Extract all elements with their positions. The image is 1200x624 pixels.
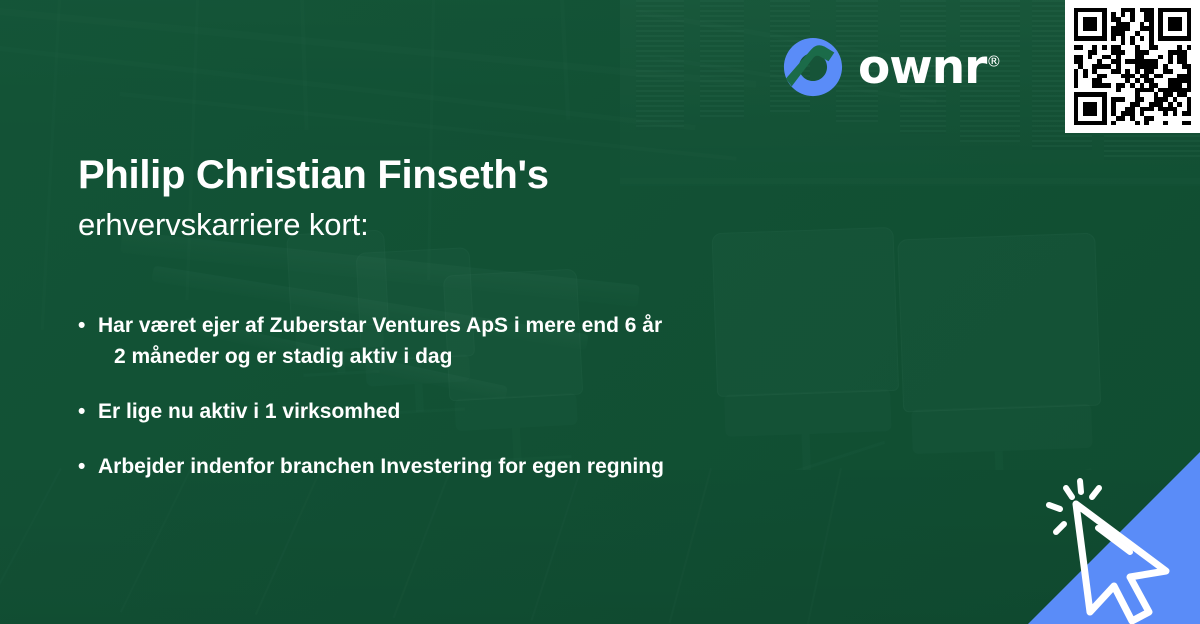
list-item: •Er lige nu aktiv i 1 virksomhed	[78, 396, 1058, 427]
heading-block: Philip Christian Finseth's erhvervskarri…	[78, 152, 978, 245]
list-item-text: Har været ejer af Zuberstar Ventures ApS…	[98, 310, 1058, 372]
list-item-text: Er lige nu aktiv i 1 virksomhed	[98, 396, 1058, 427]
career-facts-list: •Har været ejer af Zuberstar Ventures Ap…	[78, 310, 1058, 506]
page-title: Philip Christian Finseth's	[78, 152, 978, 199]
list-item: •Har været ejer af Zuberstar Ventures Ap…	[78, 310, 1058, 372]
page-subtitle: erhvervskarriere kort:	[78, 205, 978, 245]
bullet-icon: •	[78, 396, 98, 427]
ownr-circle-swirl-icon	[782, 36, 844, 98]
list-item-line: Er lige nu aktiv i 1 virksomhed	[98, 400, 400, 423]
bullet-icon: •	[78, 310, 98, 341]
qr-code-panel[interactable]	[1065, 0, 1200, 133]
wordmark-text: ownr	[858, 40, 986, 95]
ownr-wordmark: ownr®	[858, 44, 1001, 91]
list-item-text: Arbejder indenfor branchen Investering f…	[98, 451, 1058, 482]
registered-mark: ®	[986, 52, 1001, 70]
list-item: •Arbejder indenfor branchen Investering …	[78, 451, 1058, 482]
list-item-line: Arbejder indenfor branchen Investering f…	[98, 455, 664, 478]
list-item-line: Har været ejer af Zuberstar Ventures ApS…	[98, 314, 662, 337]
qr-code[interactable]	[1074, 8, 1192, 126]
list-item-line-continued: 2 måneder og er stadig aktiv i dag	[98, 341, 1058, 372]
bullet-icon: •	[78, 451, 98, 482]
business-career-card: ownr® Philip Christian Finseth's erhverv…	[0, 0, 1200, 624]
ownr-logo[interactable]: ownr®	[782, 36, 1001, 98]
